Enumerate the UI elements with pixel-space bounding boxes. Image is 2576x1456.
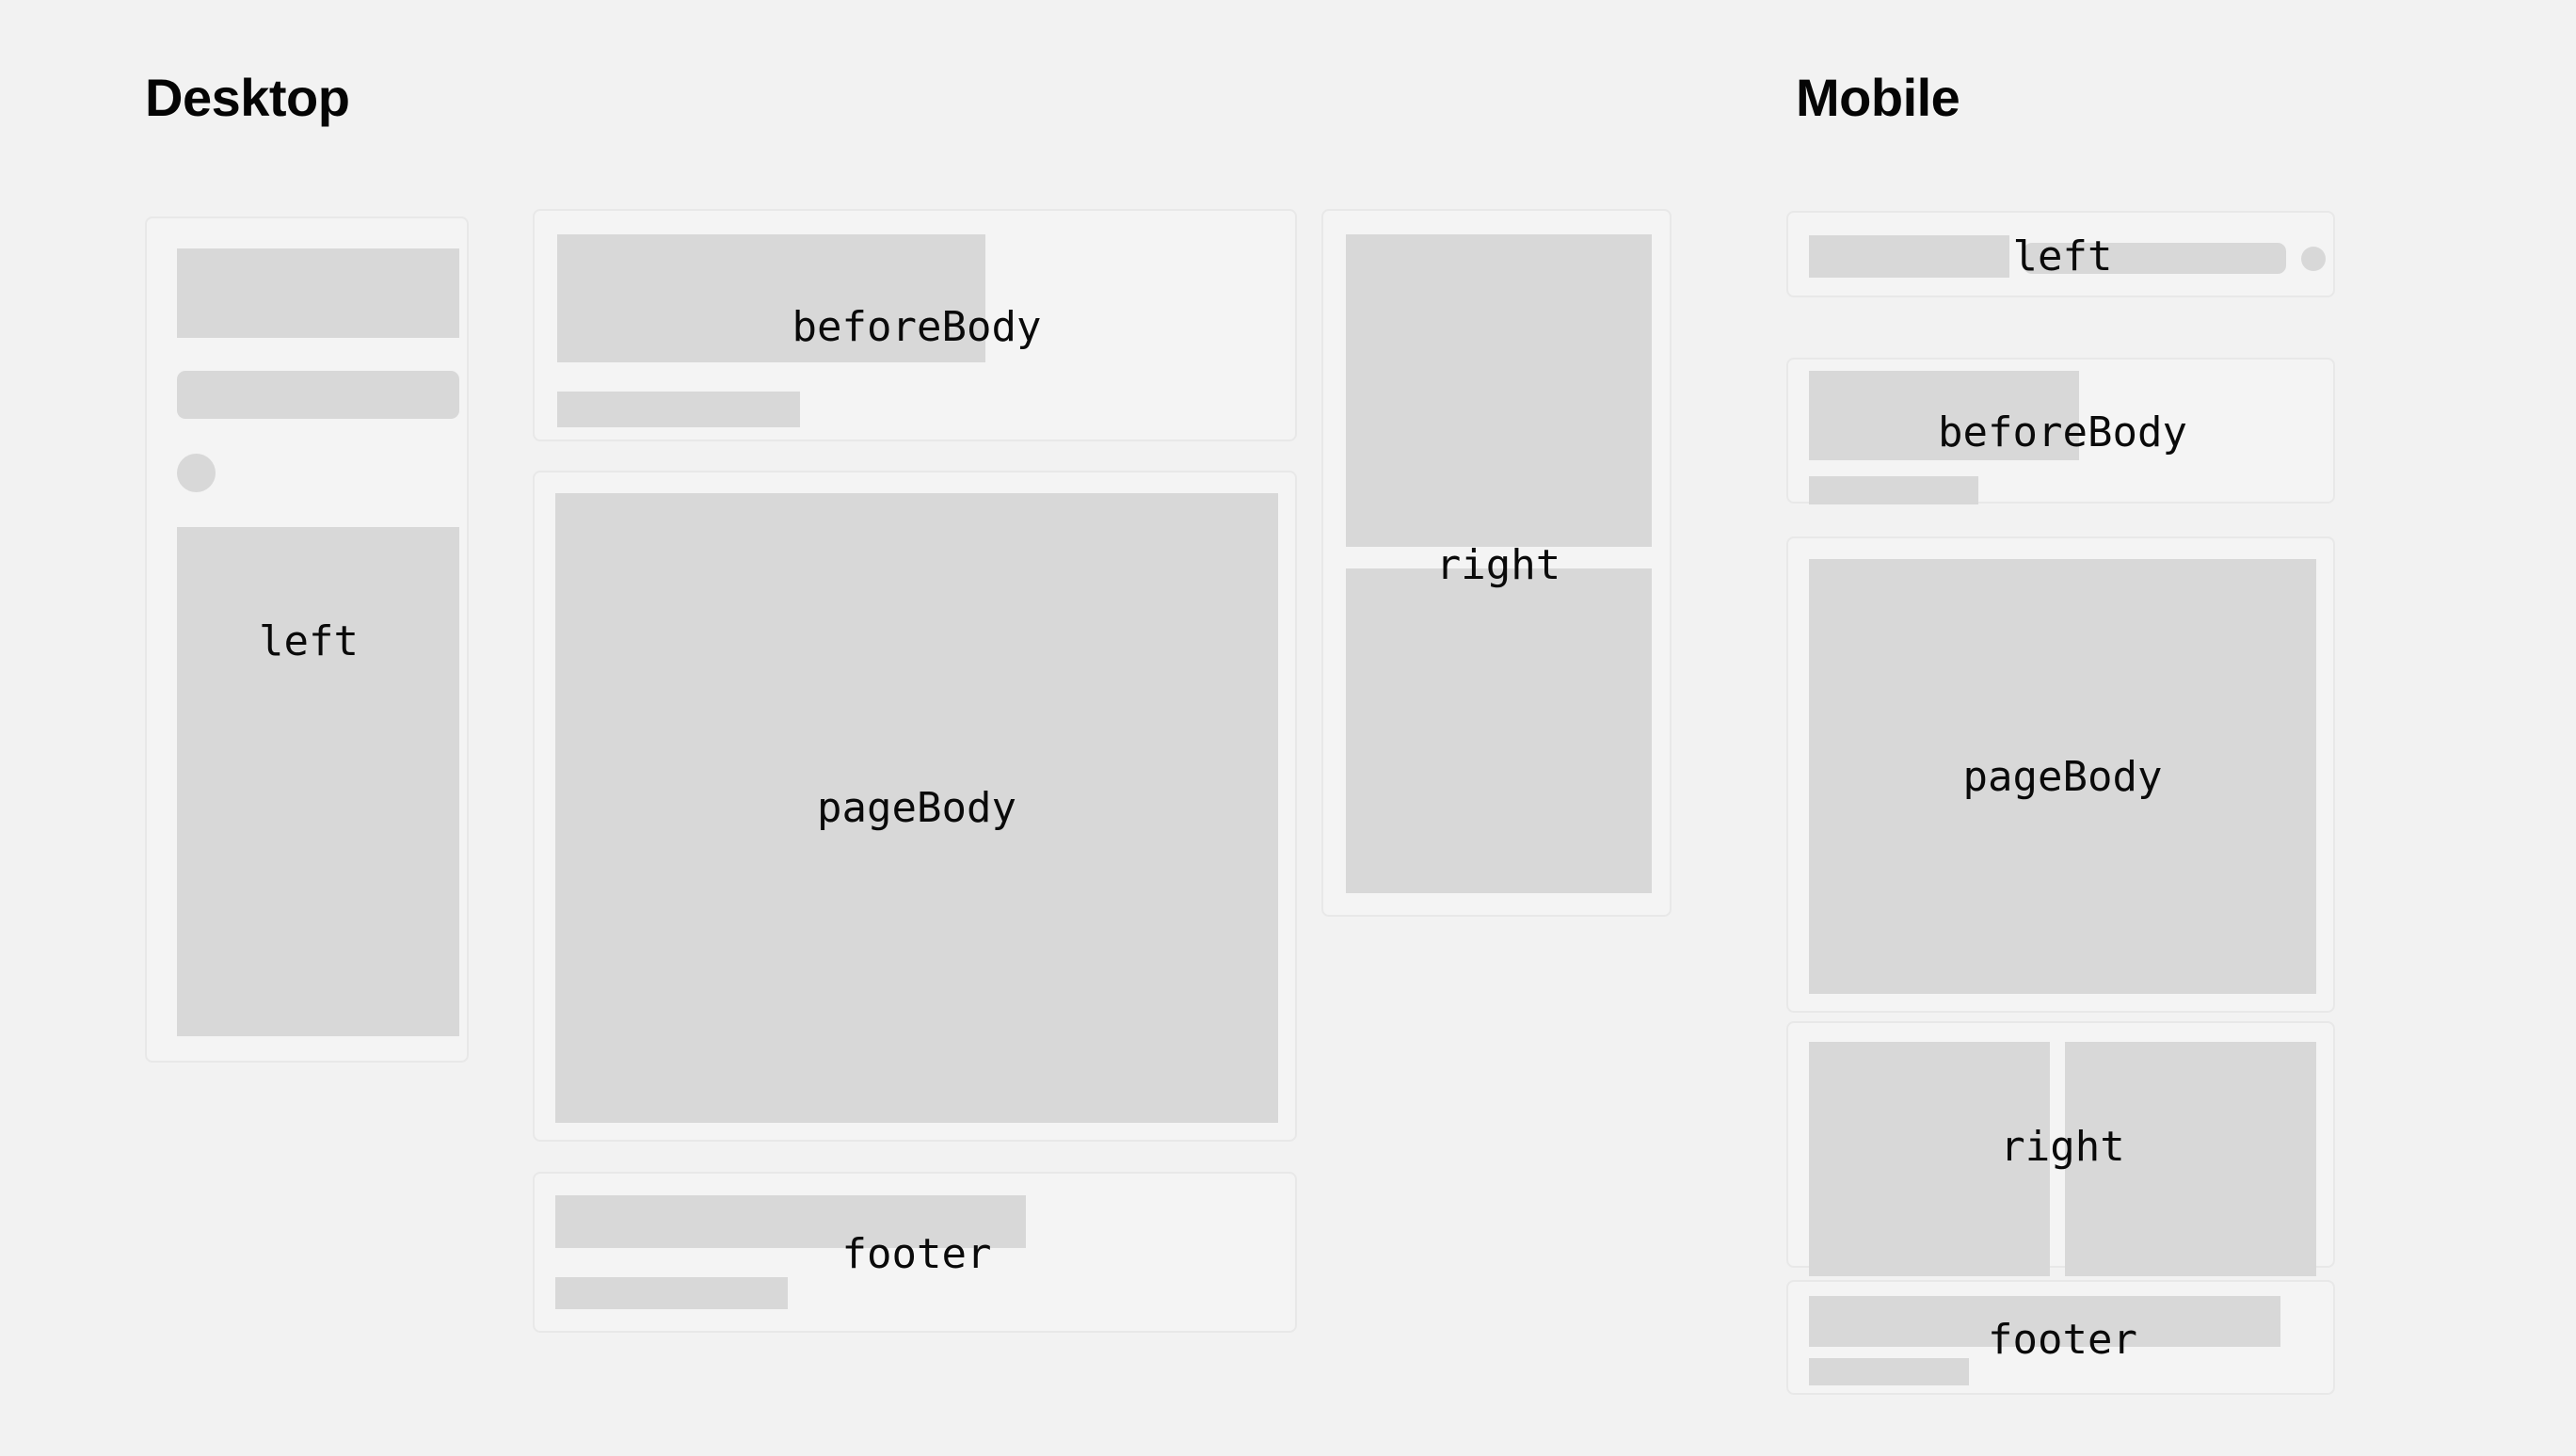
skeleton-rect-bottom <box>1346 568 1652 893</box>
desktop-slot-footer[interactable]: footer <box>533 1172 1297 1333</box>
skeleton-rounded-bar <box>177 371 459 419</box>
mobile-slot-left[interactable]: left <box>1786 211 2335 297</box>
mobile-slot-pagebody[interactable]: pageBody <box>1786 536 2335 1013</box>
skeleton-wide-bar <box>555 1195 1026 1248</box>
skeleton-rect-top <box>1346 234 1652 547</box>
desktop-section-title: Desktop <box>145 72 349 124</box>
skeleton-large-rect <box>555 493 1278 1123</box>
skeleton-small-bar <box>1809 1358 1969 1385</box>
desktop-slot-beforebody[interactable]: beforeBody <box>533 209 1297 441</box>
desktop-slot-left[interactable]: left <box>145 216 469 1063</box>
mobile-slot-beforebody[interactable]: beforeBody <box>1786 358 2335 504</box>
mobile-slot-footer[interactable]: footer <box>1786 1280 2335 1395</box>
skeleton-wide-rect <box>1809 371 2079 460</box>
layout-preview-stage: Desktop left beforeBody pageBody right f… <box>0 0 2576 1456</box>
skeleton-rect-right <box>2065 1042 2316 1276</box>
skeleton-rect <box>1809 235 2009 278</box>
mobile-slot-right[interactable]: right <box>1786 1021 2335 1268</box>
skeleton-circle <box>177 454 216 492</box>
skeleton-rect <box>177 248 459 338</box>
skeleton-wide-bar <box>1809 1296 2280 1347</box>
skeleton-small-bar <box>1809 476 1978 504</box>
skeleton-large-rect <box>1809 559 2316 994</box>
skeleton-rect-left <box>1809 1042 2050 1276</box>
mobile-section-title: Mobile <box>1796 72 1960 124</box>
skeleton-wide-rect <box>557 234 985 362</box>
skeleton-circle <box>2301 247 2326 271</box>
desktop-slot-pagebody[interactable]: pageBody <box>533 471 1297 1142</box>
desktop-slot-right[interactable]: right <box>1321 209 1672 917</box>
skeleton-small-bar <box>557 392 800 427</box>
skeleton-small-bar <box>555 1277 788 1309</box>
skeleton-tall-rect <box>177 527 459 1036</box>
skeleton-rounded-bar <box>2024 243 2286 274</box>
